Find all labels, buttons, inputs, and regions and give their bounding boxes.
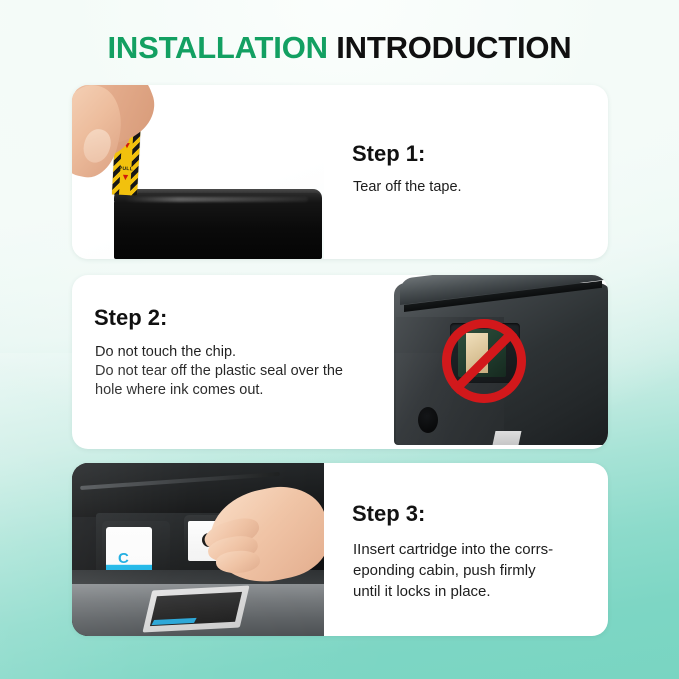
- installation-instructions-page: INSTALLATION INTRODUCTION PULL ▼ PULL ▼: [0, 0, 679, 679]
- step-1-body: Tear off the tape.: [353, 178, 462, 197]
- page-title-rest: INTRODUCTION: [336, 30, 571, 65]
- step-card-2: Step 2: Do not touch the chip. Do not te…: [72, 275, 608, 449]
- ink-outlet-hole: [418, 407, 438, 433]
- cyan-cartridge-letter: C: [118, 551, 129, 566]
- hand-graphic: [72, 85, 192, 189]
- cartridge-small-label: [493, 431, 522, 445]
- step-card-1: PULL ▼ PULL ▼ Step 1: Tear off the tape.: [72, 85, 608, 259]
- cartridge-gloss-highlight: [124, 197, 308, 202]
- step-2-image: [390, 275, 608, 449]
- step-3-heading: Step 3:: [352, 501, 425, 527]
- page-title: INSTALLATION INTRODUCTION: [0, 28, 679, 68]
- step-1-text: Step 1: Tear off the tape.: [352, 85, 594, 259]
- step-3-text: Step 3: IInsert cartridge into the corrs…: [352, 463, 594, 636]
- step-3-body: IInsert cartridge into the corrs- epondi…: [353, 539, 553, 602]
- hand-graphic: [198, 477, 324, 607]
- title-space: [328, 30, 336, 65]
- step-3-image: C B: [72, 463, 324, 636]
- step-2-heading: Step 2:: [94, 305, 167, 331]
- step-1-image: PULL ▼ PULL ▼: [72, 85, 324, 259]
- step-2-body: Do not touch the chip. Do not tear off t…: [95, 343, 343, 400]
- step-2-text: Step 2: Do not touch the chip. Do not te…: [94, 275, 394, 449]
- black-cartridge-body: [114, 193, 322, 259]
- step-card-3: C B Step 3: IInsert cartridge into the c…: [72, 463, 608, 636]
- step-1-heading: Step 1:: [352, 141, 425, 167]
- page-title-highlight: INSTALLATION: [108, 30, 328, 65]
- no-touch-prohibition-icon: [442, 319, 526, 403]
